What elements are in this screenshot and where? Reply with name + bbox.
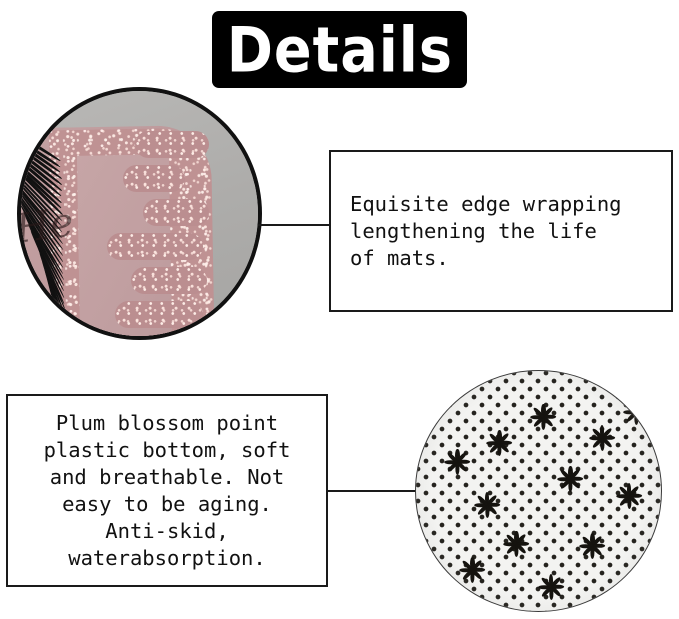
edge-wrap-tongue bbox=[107, 233, 203, 260]
details-banner: Details bbox=[212, 11, 467, 88]
edge-wrap-tongue bbox=[135, 131, 209, 158]
edge-wrap-tongue bbox=[131, 267, 207, 294]
callout-edge-wrapping-text: Equisite edge wrapping lengthening the l… bbox=[350, 191, 671, 272]
edge-wrap-tongue bbox=[115, 301, 203, 328]
callout-plastic-bottom-text: Plum blossom point plastic bottom, soft … bbox=[16, 410, 318, 572]
edge-wrap-tongue bbox=[123, 165, 185, 192]
leader-line-plastic-bottom bbox=[326, 490, 418, 492]
mat-signature-script: He bbox=[17, 199, 76, 253]
mat-edge-closeup-photo: He bbox=[17, 87, 262, 340]
edge-wrap-tongue bbox=[139, 335, 209, 340]
photo-vignette bbox=[416, 371, 661, 611]
details-banner-title: Details bbox=[226, 18, 452, 81]
details-infographic: Details He Equisite edge wrapping length… bbox=[0, 0, 679, 619]
callout-edge-wrapping: Equisite edge wrapping lengthening the l… bbox=[329, 150, 673, 312]
leader-line-edge-wrapping bbox=[258, 224, 331, 226]
edge-wrap-tongue bbox=[143, 199, 209, 226]
callout-plastic-bottom: Plum blossom point plastic bottom, soft … bbox=[6, 394, 328, 587]
anti-skid-backing-photo bbox=[415, 370, 662, 612]
